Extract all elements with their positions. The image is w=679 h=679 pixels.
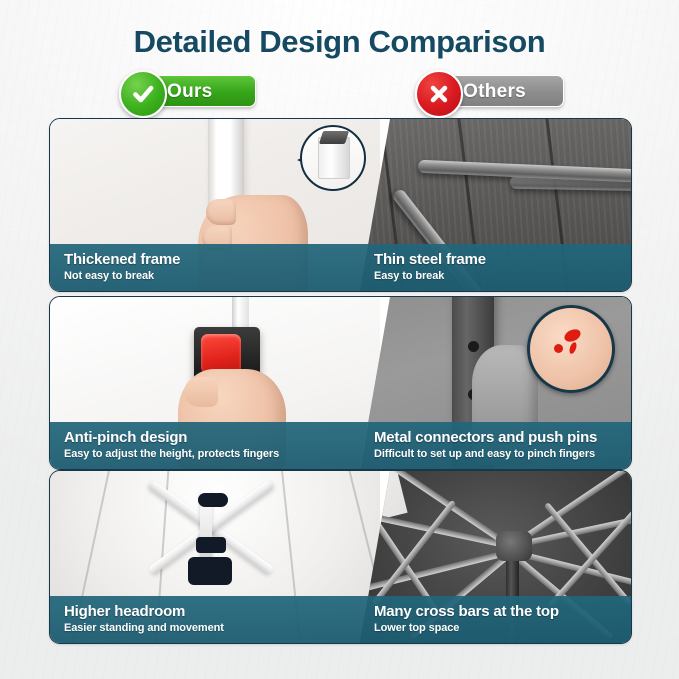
card-2-ours-panel: Anti-pinch design Easy to adjust the hei… bbox=[50, 297, 380, 469]
cross-circle-icon bbox=[415, 70, 463, 118]
card-1-ours-panel: Thickened frame Not easy to break bbox=[50, 119, 380, 291]
card-3-others-caption: Many cross bars at the top Lower top spa… bbox=[360, 596, 631, 643]
card-3-ours-caption: Higher headroom Easier standing and move… bbox=[50, 596, 380, 643]
finger-graphic bbox=[206, 199, 236, 225]
badge-row: Ours Others bbox=[0, 72, 679, 112]
caption-title: Many cross bars at the top bbox=[374, 602, 631, 621]
card-1-ours-caption: Thickened frame Not easy to break bbox=[50, 244, 380, 291]
blood-drop bbox=[554, 344, 563, 353]
canopy-connector-hub bbox=[196, 537, 226, 553]
thumb-graphic bbox=[184, 377, 218, 407]
page-title: Detailed Design Comparison bbox=[0, 24, 679, 60]
badge-others-label: Others bbox=[463, 82, 526, 101]
badge-others: Others bbox=[424, 75, 564, 107]
card-3-ours-panel: Higher headroom Easier standing and move… bbox=[50, 471, 380, 643]
comparison-card-3: Higher headroom Easier standing and move… bbox=[49, 470, 632, 644]
check-circle-icon bbox=[119, 70, 167, 118]
caption-title: Anti-pinch design bbox=[64, 428, 380, 447]
caption-title: Higher headroom bbox=[64, 602, 380, 621]
caption-subtitle: Difficult to set up and easy to pinch fi… bbox=[374, 447, 631, 462]
badge-ours: Ours bbox=[128, 75, 256, 107]
comparison-card-2: Anti-pinch design Easy to adjust the hei… bbox=[49, 296, 632, 470]
card-3-others-panel: Many cross bars at the top Lower top spa… bbox=[360, 471, 631, 643]
caption-title: Metal connectors and push pins bbox=[374, 428, 631, 447]
caption-title: Thickened frame bbox=[64, 250, 380, 269]
canopy-connector-hub bbox=[188, 557, 232, 585]
card-1-others-caption: Thin steel frame Easy to break bbox=[360, 244, 631, 291]
canopy-peak-hub bbox=[198, 493, 228, 507]
card-2-ours-caption: Anti-pinch design Easy to adjust the hei… bbox=[50, 422, 380, 469]
card-2-others-panel: Metal connectors and push pins Difficult… bbox=[360, 297, 631, 469]
card-2-others-caption: Metal connectors and push pins Difficult… bbox=[360, 422, 631, 469]
comparison-card-1: Thickened frame Not easy to break Thin s… bbox=[49, 118, 632, 292]
square-tube-cross-section bbox=[318, 137, 350, 179]
canopy-center-hub bbox=[496, 531, 532, 561]
push-pin-hole bbox=[468, 341, 479, 352]
blood-drop bbox=[568, 341, 578, 354]
caption-subtitle: Easy to adjust the height, protects fing… bbox=[64, 447, 380, 462]
caption-title: Thin steel frame bbox=[374, 250, 631, 269]
magnifier-callout bbox=[300, 125, 366, 191]
caption-subtitle: Easier standing and movement bbox=[64, 621, 380, 636]
injured-finger-callout bbox=[527, 305, 615, 393]
badge-ours-label: Ours bbox=[167, 82, 213, 101]
caption-subtitle: Not easy to break bbox=[64, 269, 380, 284]
card-1-others-panel: Thin steel frame Easy to break bbox=[360, 119, 631, 291]
red-push-button bbox=[201, 334, 241, 374]
caption-subtitle: Lower top space bbox=[374, 621, 631, 636]
comparison-infographic: Detailed Design Comparison Ours Others bbox=[0, 0, 679, 679]
caption-subtitle: Easy to break bbox=[374, 269, 631, 284]
